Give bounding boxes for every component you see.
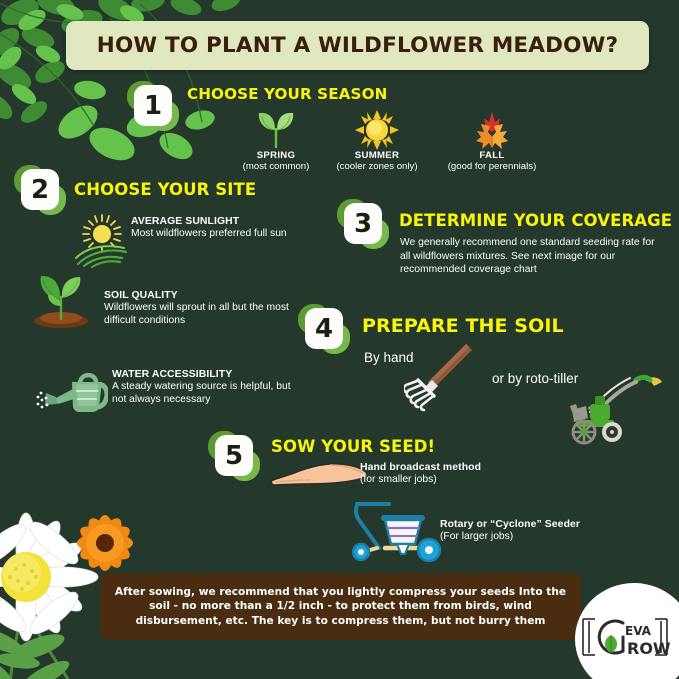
rake-icon (404, 340, 476, 412)
season-caption-fall: FALL (good for perennials) (427, 150, 557, 172)
step-number-3: 3 (344, 203, 382, 244)
method-title: Rotary or “Cyclone” Seeder (440, 519, 640, 531)
season-name: FALL (427, 150, 557, 161)
sprout-in-soil-icon (30, 272, 92, 328)
site-item-title: SOIL QUALITY (104, 290, 289, 302)
season-note: (cooler zones only) (312, 161, 442, 172)
footer-note-text: After sowing, we recommend that you ligh… (112, 585, 569, 628)
open-hand-icon (270, 460, 368, 492)
site-item-title: WATER ACCESSIBILITY (112, 369, 292, 381)
step-5-method-spreader-text: Rotary or “Cyclone” Seeder (For larger j… (440, 519, 640, 544)
step-heading-3: DETERMINE YOUR COVERAGE (399, 211, 672, 230)
step-badge-5: 5 (208, 430, 260, 482)
maple-leaves-icon (468, 110, 516, 150)
step-badge-3: 3 (337, 198, 389, 250)
broadcast-spreader-icon (341, 496, 449, 562)
step-number-2: 2 (21, 169, 59, 210)
site-item-body: A steady watering source is helpful, but… (112, 381, 291, 404)
page-title: HOW TO PLANT A WILDFLOWER MEADOW? (97, 33, 619, 58)
season-name: SUMMER (312, 150, 442, 161)
method-note: (for smaller jobs) (360, 474, 437, 485)
seedling-icon (255, 110, 297, 148)
method-note: (For larger jobs) (440, 531, 513, 542)
site-item-soil-text: SOIL QUALITY Wildflowers will sprout in … (104, 290, 289, 327)
sun-over-field-icon (74, 214, 130, 268)
site-item-body: Wildflowers will sprout in all but the m… (104, 302, 289, 325)
site-item-water-text: WATER ACCESSIBILITY A steady watering so… (112, 369, 292, 406)
site-item-sunlight-text: AVERAGE SUNLIGHT Most wildflowers prefer… (131, 216, 306, 241)
method-title: Hand broadcast method (360, 462, 540, 474)
season-caption-summer: SUMMER (cooler zones only) (312, 150, 442, 172)
logo-text-row: ROW (627, 639, 671, 658)
step-3-body: We generally recommend one standard seed… (400, 236, 662, 277)
step-heading-5: SOW YOUR SEED! (271, 437, 435, 456)
step-number-5: 5 (215, 435, 253, 476)
step-badge-4: 4 (298, 303, 350, 355)
infographic-poster: HOW TO PLANT A WILDFLOWER MEADOW? 1 CHOO… (0, 0, 679, 679)
season-note: (good for perennials) (427, 161, 557, 172)
roto-tiller-icon (550, 368, 664, 448)
sun-icon (355, 110, 399, 150)
step-badge-2: 2 (14, 164, 66, 216)
step-heading-2: CHOOSE YOUR SITE (74, 180, 256, 199)
step-number-4: 4 (305, 308, 343, 349)
site-item-title: AVERAGE SUNLIGHT (131, 216, 306, 228)
step-5-method-hand-text: Hand broadcast method (for smaller jobs) (360, 462, 540, 487)
daisy-flowers-decoration (0, 465, 182, 679)
eva-grow-logo[interactable]: EVA ROW G (579, 609, 671, 665)
watering-can-icon (36, 371, 108, 415)
step-badge-1: 1 (127, 80, 179, 132)
step-heading-4: PREPARE THE SOIL (362, 315, 564, 337)
step-number-1: 1 (134, 85, 172, 126)
footer-note-box: After sowing, we recommend that you ligh… (100, 573, 581, 640)
site-item-body: Most wildflowers preferred full sun (131, 228, 287, 239)
step-heading-1: CHOOSE YOUR SEASON (187, 85, 387, 103)
title-banner: HOW TO PLANT A WILDFLOWER MEADOW? (66, 21, 649, 70)
